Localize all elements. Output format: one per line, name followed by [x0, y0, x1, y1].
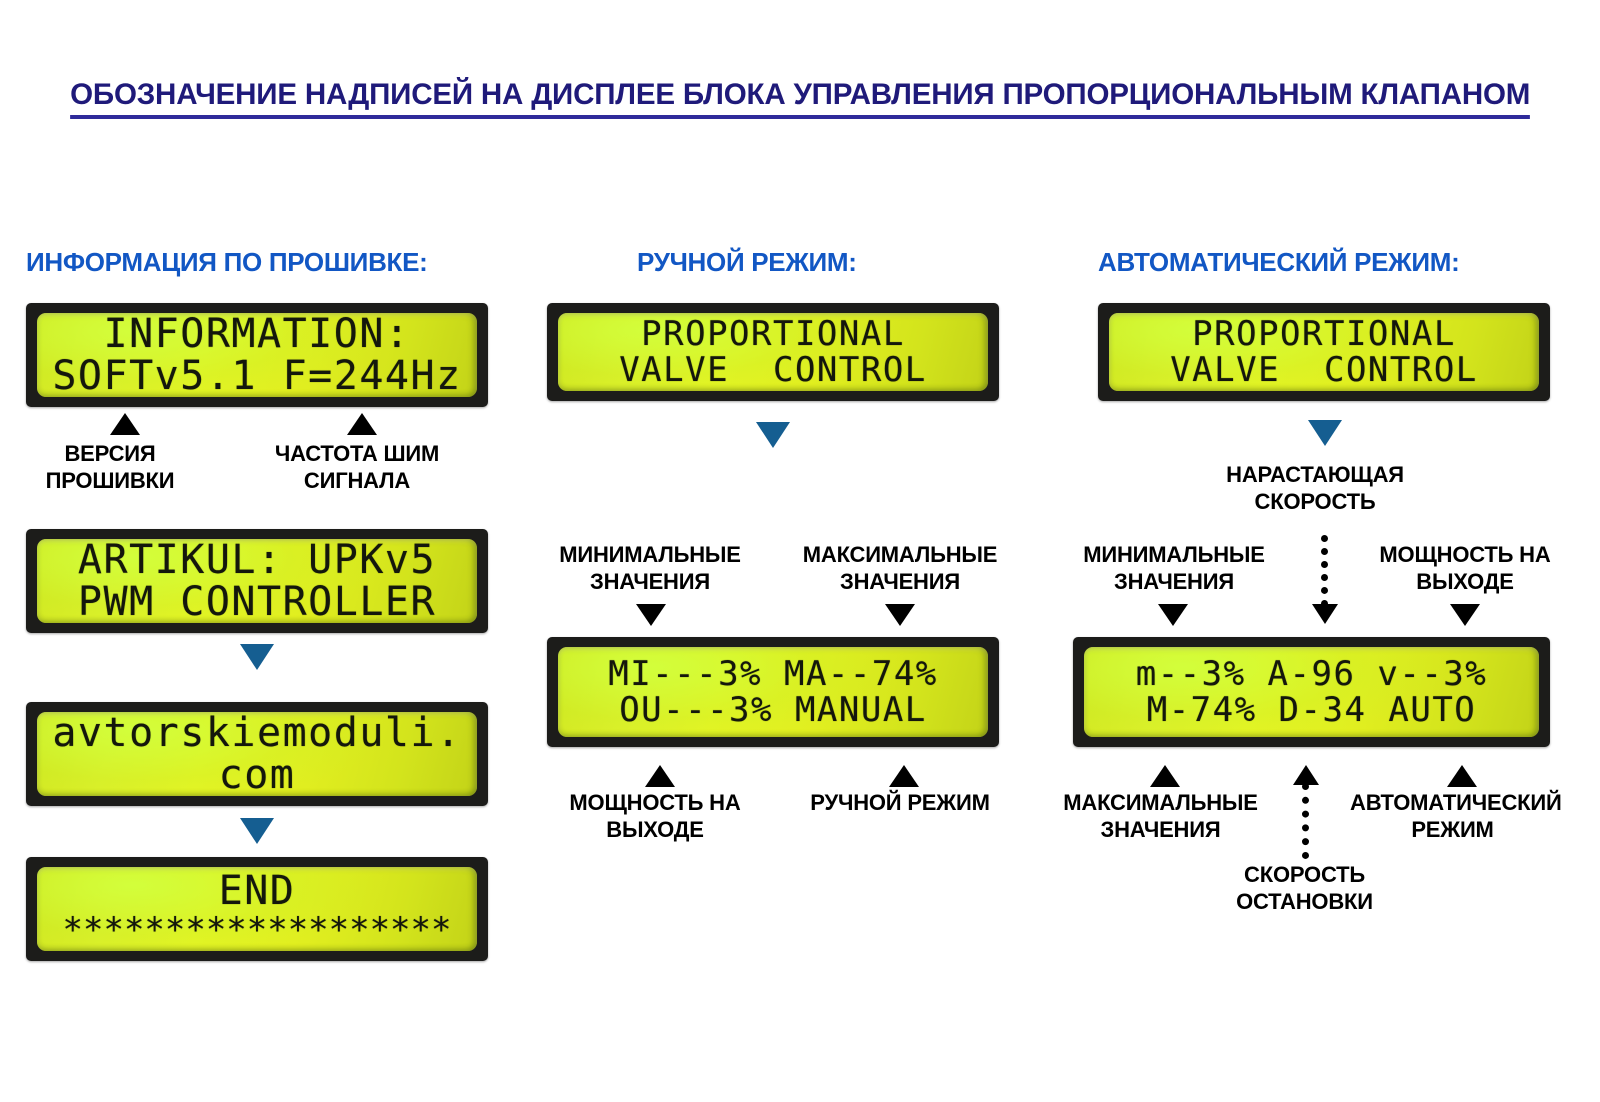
arrow-down-to-website — [240, 644, 274, 670]
section-heading-firmware: ИНФОРМАЦИЯ ПО ПРОШИВКЕ: — [26, 247, 428, 278]
arrow-up-auto-max-values — [1150, 765, 1180, 787]
lcd-auto-splash-line1: PROPORTIONAL — [1109, 316, 1539, 352]
lcd-end-screen: END ******************* — [37, 867, 477, 951]
lcd-auto-splash-screen: PROPORTIONAL VALVE CONTROL — [1109, 313, 1539, 391]
lcd-website-screen: avtorskiemoduli. com — [37, 712, 477, 796]
lcd-information: INFORMATION: SOFTv5.1 F=244Hz — [26, 303, 488, 407]
arrow-up-manual-output-power — [645, 765, 675, 787]
lcd-artikul-line1: ARTIKUL: UPKv5 — [37, 539, 477, 581]
lcd-auto-values: m--3% A-96 v--3% M-74% D-34 AUTO — [1073, 637, 1550, 747]
callout-auto-stop-speed: СКОРОСТЬ ОСТАНОВКИ — [1222, 862, 1387, 916]
callout-firmware-version: ВЕРСИЯ ПРОШИВКИ — [45, 441, 175, 495]
lcd-auto-values-line2: M-74% D-34 AUTO — [1084, 692, 1539, 728]
lcd-auto-splash-line2: VALVE CONTROL — [1109, 352, 1539, 388]
lcd-information-line1: INFORMATION: — [37, 313, 477, 355]
lcd-manual-values-screen: MI---3% MA--74% OU---3% MANUAL — [558, 647, 988, 737]
lcd-website-line1: avtorskiemoduli. — [37, 712, 477, 754]
lcd-manual-splash: PROPORTIONAL VALVE CONTROL — [547, 303, 999, 401]
page-title-text: ОБОЗНАЧЕНИЕ НАДПИСЕЙ НА ДИСПЛЕЕ БЛОКА УП… — [70, 78, 1530, 119]
arrow-down-auto-splash-to-values — [1308, 420, 1342, 446]
lcd-information-line2: SOFTv5.1 F=244Hz — [37, 355, 477, 397]
lcd-information-screen: INFORMATION: SOFTv5.1 F=244Hz — [37, 313, 477, 397]
callout-auto-output-power: МОЩНОСТЬ НА ВЫХОДЕ — [1370, 542, 1560, 596]
section-heading-manual: РУЧНОЙ РЕЖИМ: — [637, 247, 857, 278]
lcd-manual-values-line2: OU---3% MANUAL — [558, 692, 988, 728]
dotted-line-stop-speed — [1302, 783, 1309, 859]
lcd-end-line2: ******************* — [37, 912, 477, 948]
lcd-auto-values-line1: m--3% A-96 v--3% — [1084, 656, 1539, 692]
lcd-auto-values-screen: m--3% A-96 v--3% M-74% D-34 AUTO — [1084, 647, 1539, 737]
arrow-up-pwm-frequency — [347, 413, 377, 435]
arrow-head-up-stop-speed — [1293, 765, 1319, 785]
lcd-manual-splash-line2: VALVE CONTROL — [558, 352, 988, 388]
lcd-artikul-screen: ARTIKUL: UPKv5 PWM CONTROLLER — [37, 539, 477, 623]
lcd-auto-splash: PROPORTIONAL VALVE CONTROL — [1098, 303, 1550, 401]
lcd-website-line2: com — [37, 754, 477, 796]
lcd-website: avtorskiemoduli. com — [26, 702, 488, 806]
lcd-manual-values-line1: MI---3% MA--74% — [558, 656, 988, 692]
section-heading-automatic: АВТОМАТИЧЕСКИЙ РЕЖИМ: — [1098, 247, 1459, 278]
lcd-artikul: ARTIKUL: UPKv5 PWM CONTROLLER — [26, 529, 488, 633]
lcd-manual-values: MI---3% MA--74% OU---3% MANUAL — [547, 637, 999, 747]
callout-pwm-frequency: ЧАСТОТА ШИМ СИГНАЛА — [272, 441, 442, 495]
dotted-line-ramp-up-speed — [1321, 535, 1328, 607]
page-title: ОБОЗНАЧЕНИЕ НАДПИСЕЙ НА ДИСПЛЕЕ БЛОКА УП… — [0, 78, 1600, 119]
arrow-up-manual-mode — [889, 765, 919, 787]
callout-auto-mode: АВТОМАТИЧЕСКИЙ РЕЖИМ — [1350, 790, 1555, 844]
lcd-artikul-line2: PWM CONTROLLER — [37, 581, 477, 623]
arrow-down-auto-output-power — [1450, 604, 1480, 626]
arrow-down-manual-max-values — [885, 604, 915, 626]
callout-manual-output-power: МОЩНОСТЬ НА ВЫХОДЕ — [565, 790, 745, 844]
lcd-manual-splash-line1: PROPORTIONAL — [558, 316, 988, 352]
arrow-head-down-ramp-up-speed — [1312, 604, 1338, 624]
callout-manual-min-values: МИНИМАЛЬНЫЕ ЗНАЧЕНИЯ — [551, 542, 749, 596]
lcd-manual-splash-screen: PROPORTIONAL VALVE CONTROL — [558, 313, 988, 391]
arrow-down-manual-splash-to-values — [756, 422, 790, 448]
arrow-up-firmware-version — [110, 413, 140, 435]
callout-auto-max-values: МАКСИМАЛЬНЫЕ ЗНАЧЕНИЯ — [1058, 790, 1263, 844]
callout-manual-max-values: МАКСИМАЛЬНЫЕ ЗНАЧЕНИЯ — [795, 542, 1005, 596]
lcd-end: END ******************* — [26, 857, 488, 961]
arrow-down-to-end — [240, 818, 274, 844]
callout-auto-min-values: МИНИМАЛЬНЫЕ ЗНАЧЕНИЯ — [1075, 542, 1273, 596]
lcd-end-line1: END — [37, 870, 477, 912]
arrow-up-auto-mode — [1447, 765, 1477, 787]
arrow-down-auto-min-values — [1158, 604, 1188, 626]
callout-manual-mode: РУЧНОЙ РЕЖИМ — [805, 790, 995, 817]
arrow-down-manual-min-values — [636, 604, 666, 626]
callout-auto-ramp-up-speed: НАРАСТАЮЩАЯ СКОРОСТЬ — [1210, 462, 1420, 516]
